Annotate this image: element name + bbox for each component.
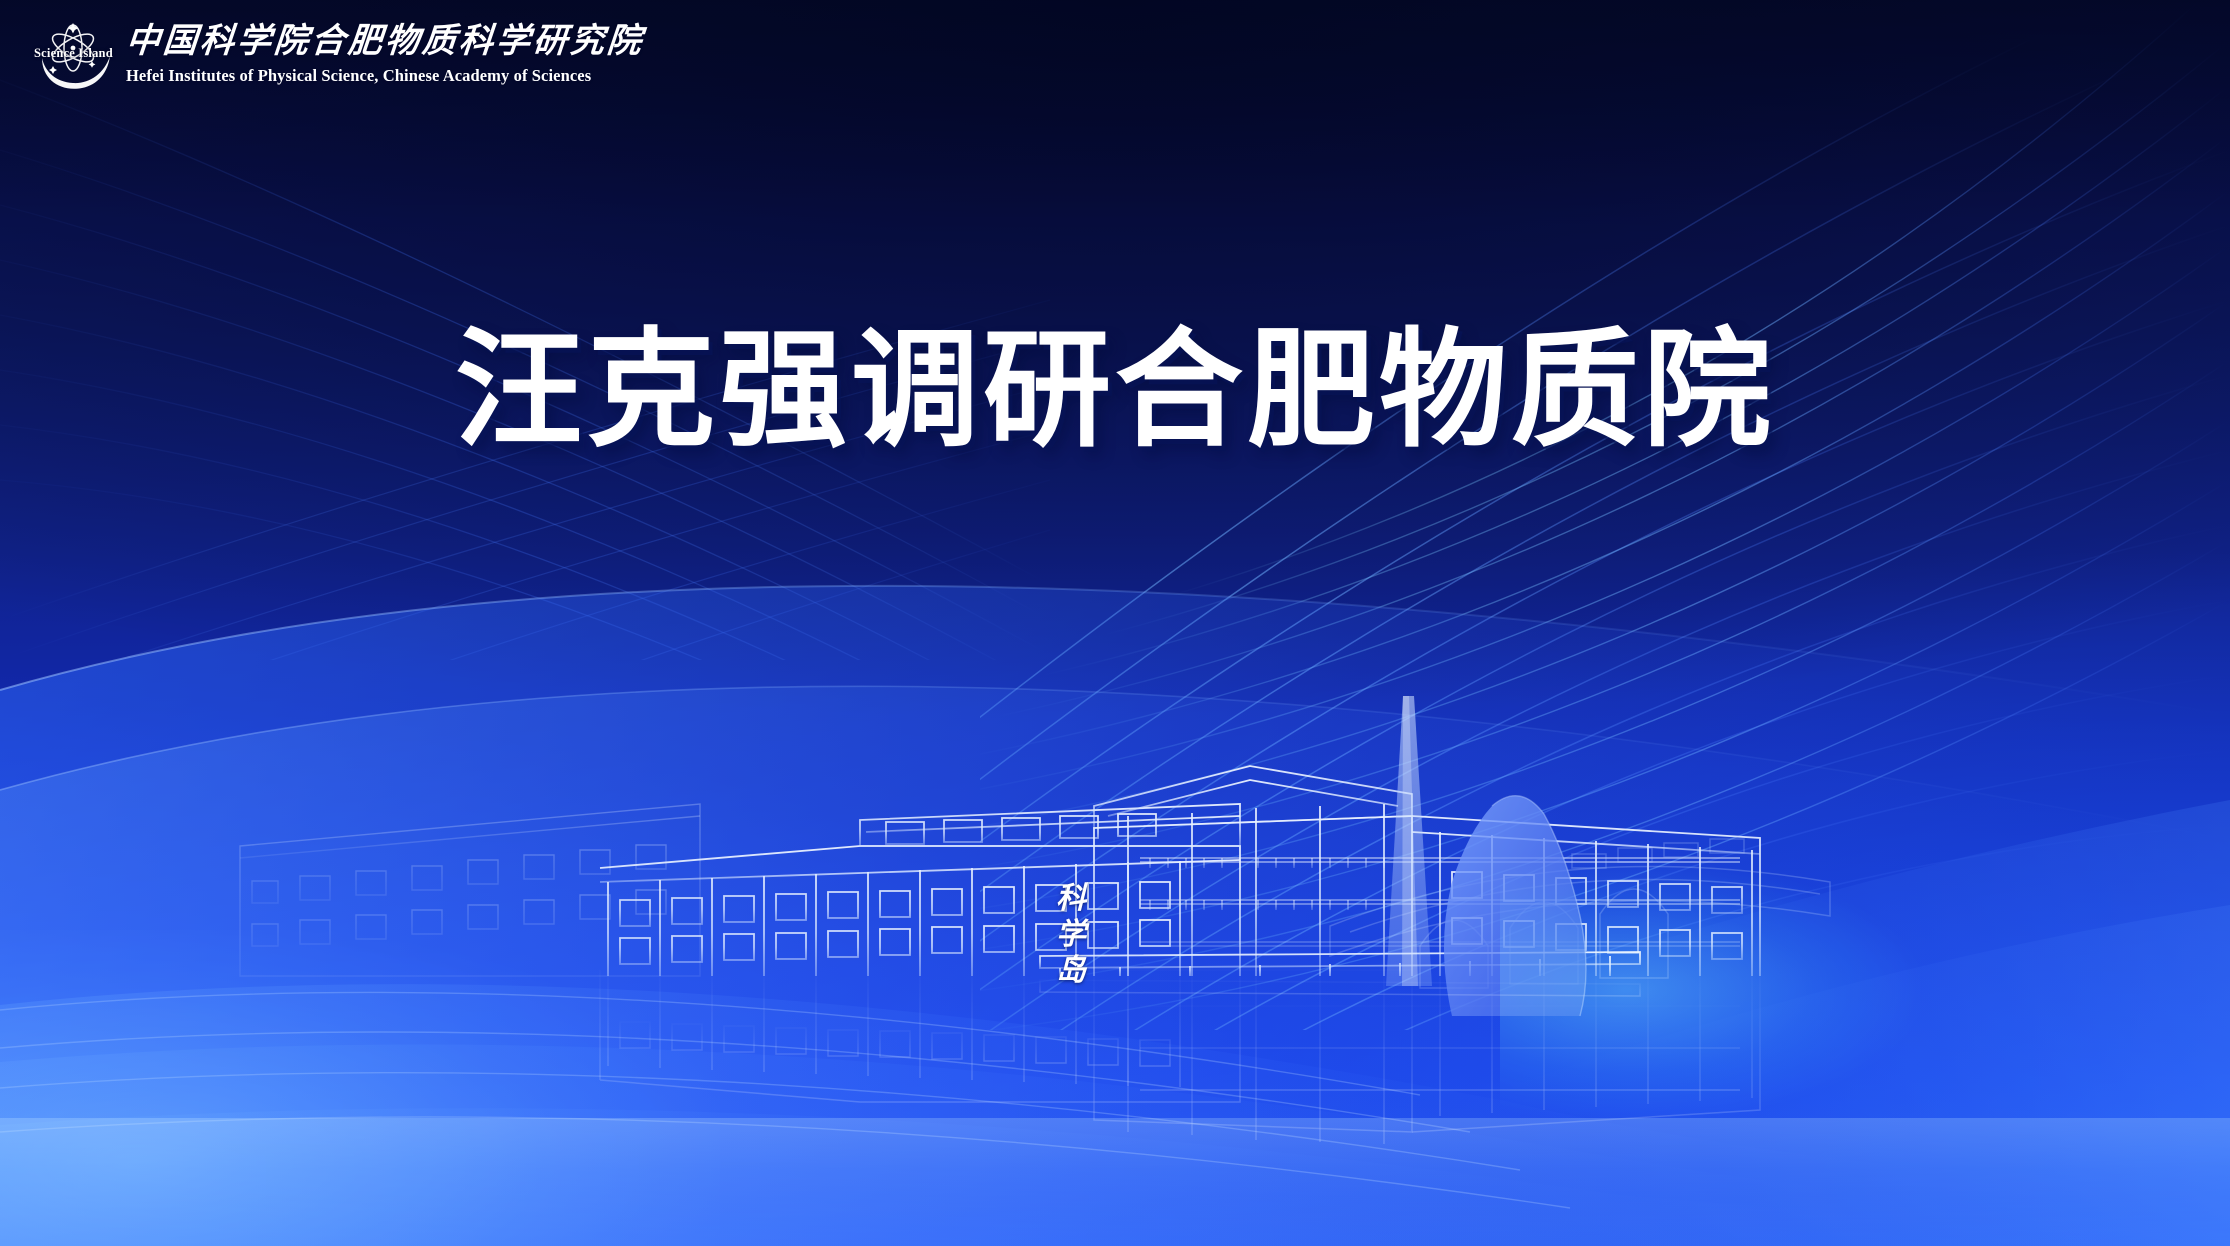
monument-char-1: 科: [1056, 884, 1086, 914]
monument-inscription: 科 学 岛: [1046, 884, 1096, 986]
left-wing-building: [240, 804, 700, 976]
presentation-slide: 科 学 岛 S: [0, 0, 2230, 1246]
org-name-cn: 中国科学院合肥物质科学研究院: [124, 24, 645, 60]
monument-char-2: 学: [1056, 920, 1086, 950]
atom-crescent-icon: Science Island: [34, 18, 112, 92]
monument-char-3: 岛: [1056, 956, 1086, 986]
org-name-en: Hefei Institutes of Physical Science, Ch…: [126, 66, 644, 86]
obelisk-spire-icon: [1386, 696, 1432, 986]
organization-logo[interactable]: Science Island 中国科学院合肥物质科学研究院 Hefei Inst…: [34, 18, 644, 92]
water-band: [0, 1118, 2230, 1246]
cyan-glow-highlight: [1500, 860, 1920, 1120]
emblem-label: Science Island: [34, 46, 112, 61]
